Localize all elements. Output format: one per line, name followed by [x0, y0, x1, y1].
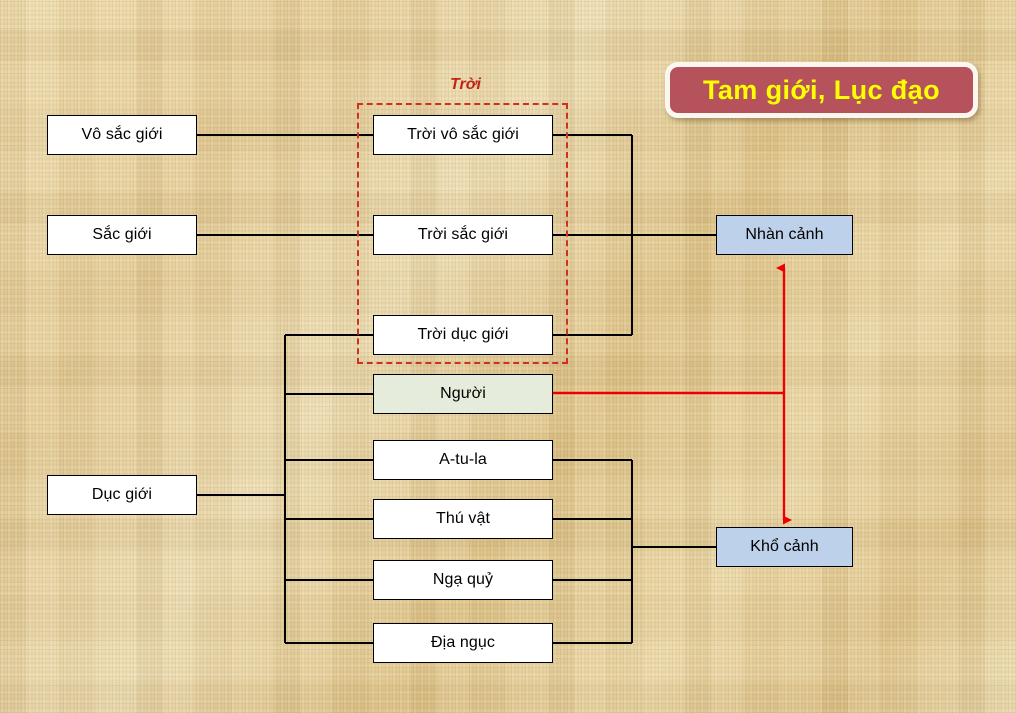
node-nga-quy[interactable]: Ngạ quỷ: [373, 560, 553, 600]
group-frame-troi-label: Trời: [450, 76, 481, 94]
node-troi-sac-gioi[interactable]: Trời sắc giới: [373, 215, 553, 255]
title-banner: Tam giới, Lục đạo: [665, 62, 978, 118]
node-dia-nguc[interactable]: Địa ngục: [373, 623, 553, 663]
diagram-canvas: Trời Tam giới, Lục đạo Vô sắc giới Sắc g…: [0, 0, 1016, 713]
node-troi-duc-gioi[interactable]: Trời dục giới: [373, 315, 553, 355]
node-nguoi[interactable]: Người: [373, 374, 553, 414]
node-nhan-canh[interactable]: Nhàn cảnh: [716, 215, 853, 255]
node-duc-gioi[interactable]: Dục giới: [47, 475, 197, 515]
node-sac-gioi[interactable]: Sắc giới: [47, 215, 197, 255]
node-troi-vo-sac-gioi[interactable]: Trời vô sắc giới: [373, 115, 553, 155]
node-vo-sac-gioi[interactable]: Vô sắc giới: [47, 115, 197, 155]
node-thu-vat[interactable]: Thú vật: [373, 499, 553, 539]
node-a-tu-la[interactable]: A-tu-la: [373, 440, 553, 480]
title-text: Tam giới, Lục đạo: [703, 75, 940, 106]
node-kho-canh[interactable]: Khổ cảnh: [716, 527, 853, 567]
